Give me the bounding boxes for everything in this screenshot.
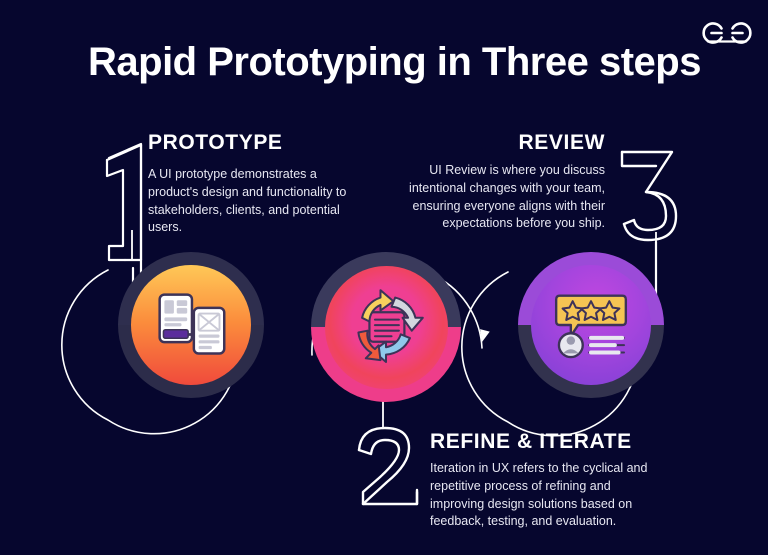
star-rating-review-icon xyxy=(518,252,664,398)
step-numeral-2 xyxy=(345,410,435,530)
step-1-body: A UI prototype demonstrates a product's … xyxy=(148,166,366,237)
step-1-heading: PROTOTYPE xyxy=(148,131,378,155)
cyclic-arrows-document-icon xyxy=(311,252,461,402)
page-title: Rapid Prototyping in Three steps xyxy=(88,40,701,85)
step-1-icon-circle xyxy=(118,252,264,398)
step-3-icon-circle xyxy=(518,252,664,398)
wireframe-screens-icon xyxy=(118,252,264,398)
step-2-heading: REFINE & ITERATE xyxy=(430,430,710,454)
step-3-heading: REVIEW xyxy=(390,131,605,155)
step-2-icon-circle xyxy=(311,252,461,402)
geeksforgeeks-logo xyxy=(700,16,754,50)
step-3-body: UI Review is where you discuss intention… xyxy=(395,162,605,233)
infographic-canvas: Rapid Prototyping in Three steps xyxy=(0,0,768,549)
step-2-body: Iteration in UX refers to the cyclical a… xyxy=(430,460,652,531)
